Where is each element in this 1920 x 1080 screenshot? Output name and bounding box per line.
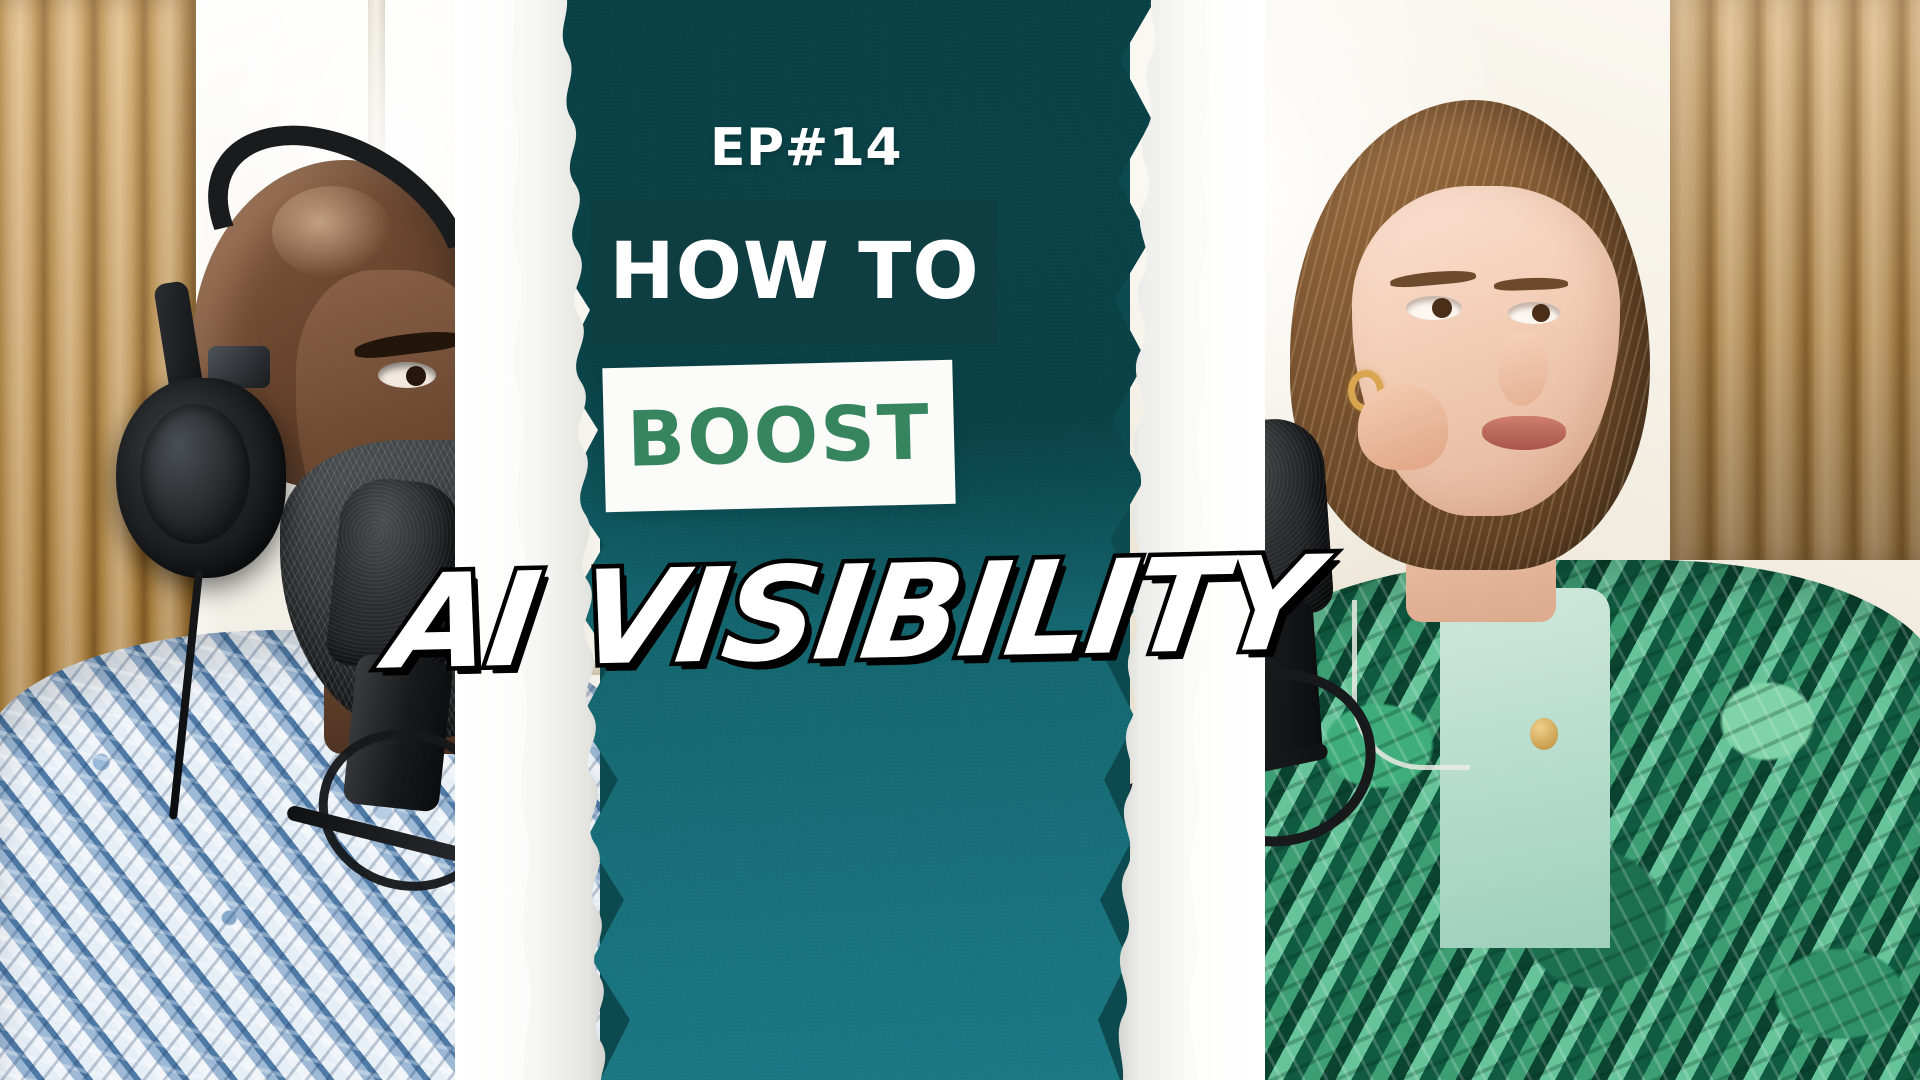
title-line2-text: BOOST (626, 394, 932, 477)
title-group: EP#14 HOW TO BOOST AI VISIBILITY (0, 0, 1920, 1080)
title-line1-text: HOW TO (609, 233, 979, 311)
episode-label: EP#14 (710, 118, 902, 178)
thumbnail-canvas: EP#14 HOW TO BOOST AI VISIBILITY (0, 0, 1920, 1080)
title-line3-outline: AI VISIBILITY (382, 538, 1323, 687)
title-line3-box: AI VISIBILITY (392, 528, 1132, 698)
title-line1-box: HOW TO (591, 200, 998, 344)
title-line2-box: BOOST (602, 360, 955, 513)
